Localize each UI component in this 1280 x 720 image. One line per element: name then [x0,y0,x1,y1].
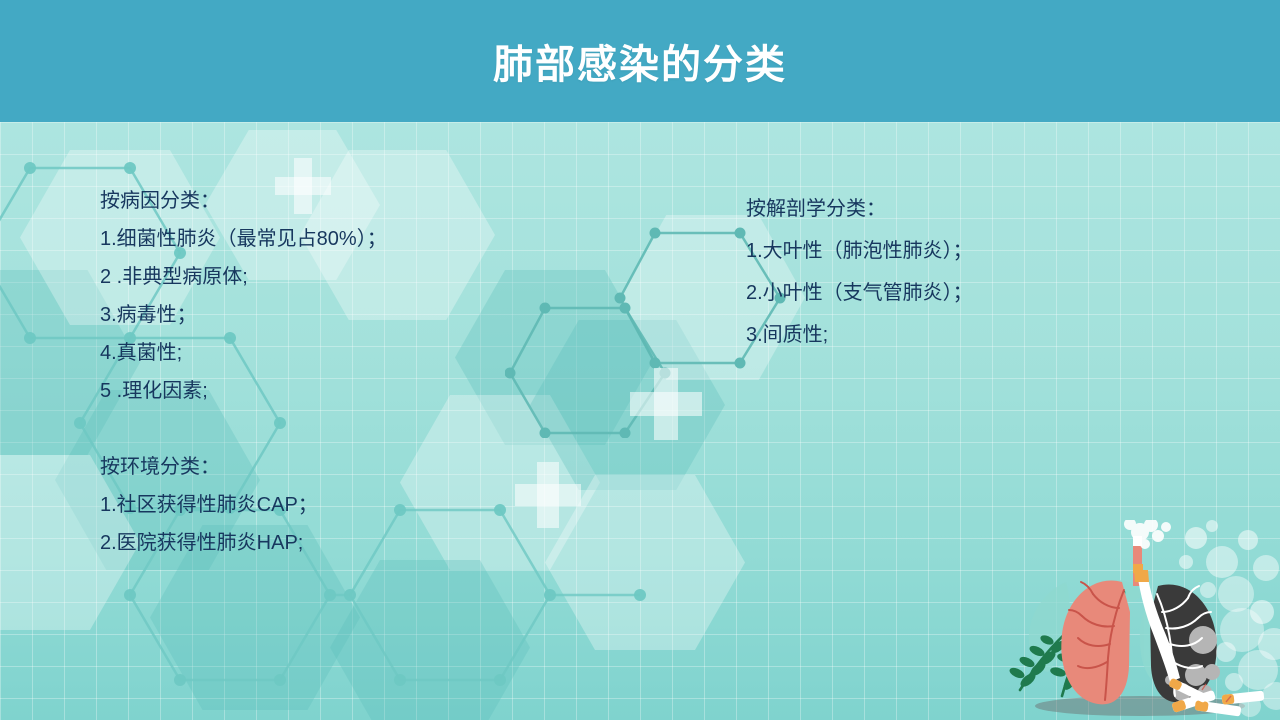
right-text-column: 按解剖学分类： 1.大叶性（肺泡性肺炎）； 2.小叶性（支气管肺炎）； 3.间质… [746,188,1176,356]
list-item: 2.医院获得性肺炎HAP; [100,524,570,562]
smoke-puff [1124,520,1171,549]
list-item: 2 .非典型病原体; [100,258,570,296]
list-item: 3.间质性; [746,314,1176,356]
list-item: 3.病毒性； [100,296,570,334]
slide-header: 肺部感染的分类 [0,0,1280,122]
page-title: 肺部感染的分类 [0,0,1280,122]
list-item: 5 .理化因素; [100,372,570,410]
medical-cross-icon [630,368,702,440]
slide: 肺部感染的分类 按病因分类： 1.细菌性肺炎（最常见占80%）； 2 .非典型病… [0,0,1280,720]
lungs-illustration [990,520,1280,720]
list-item: 1.社区获得性肺炎CAP； [100,486,570,524]
section-heading-anatomy: 按解剖学分类： [746,188,1176,230]
list-item: 1.细菌性肺炎（最常见占80%）； [100,220,570,258]
list-item: 2.小叶性（支气管肺炎）； [746,272,1176,314]
list-item: 4.真菌性; [100,334,570,372]
left-text-column: 按病因分类： 1.细菌性肺炎（最常见占80%）； 2 .非典型病原体; 3.病毒… [100,182,570,562]
section-heading-etiology: 按病因分类： [100,182,570,220]
section-heading-environment: 按环境分类： [100,448,570,486]
list-item: 1.大叶性（肺泡性肺炎）； [746,230,1176,272]
block-spacer [100,410,570,448]
